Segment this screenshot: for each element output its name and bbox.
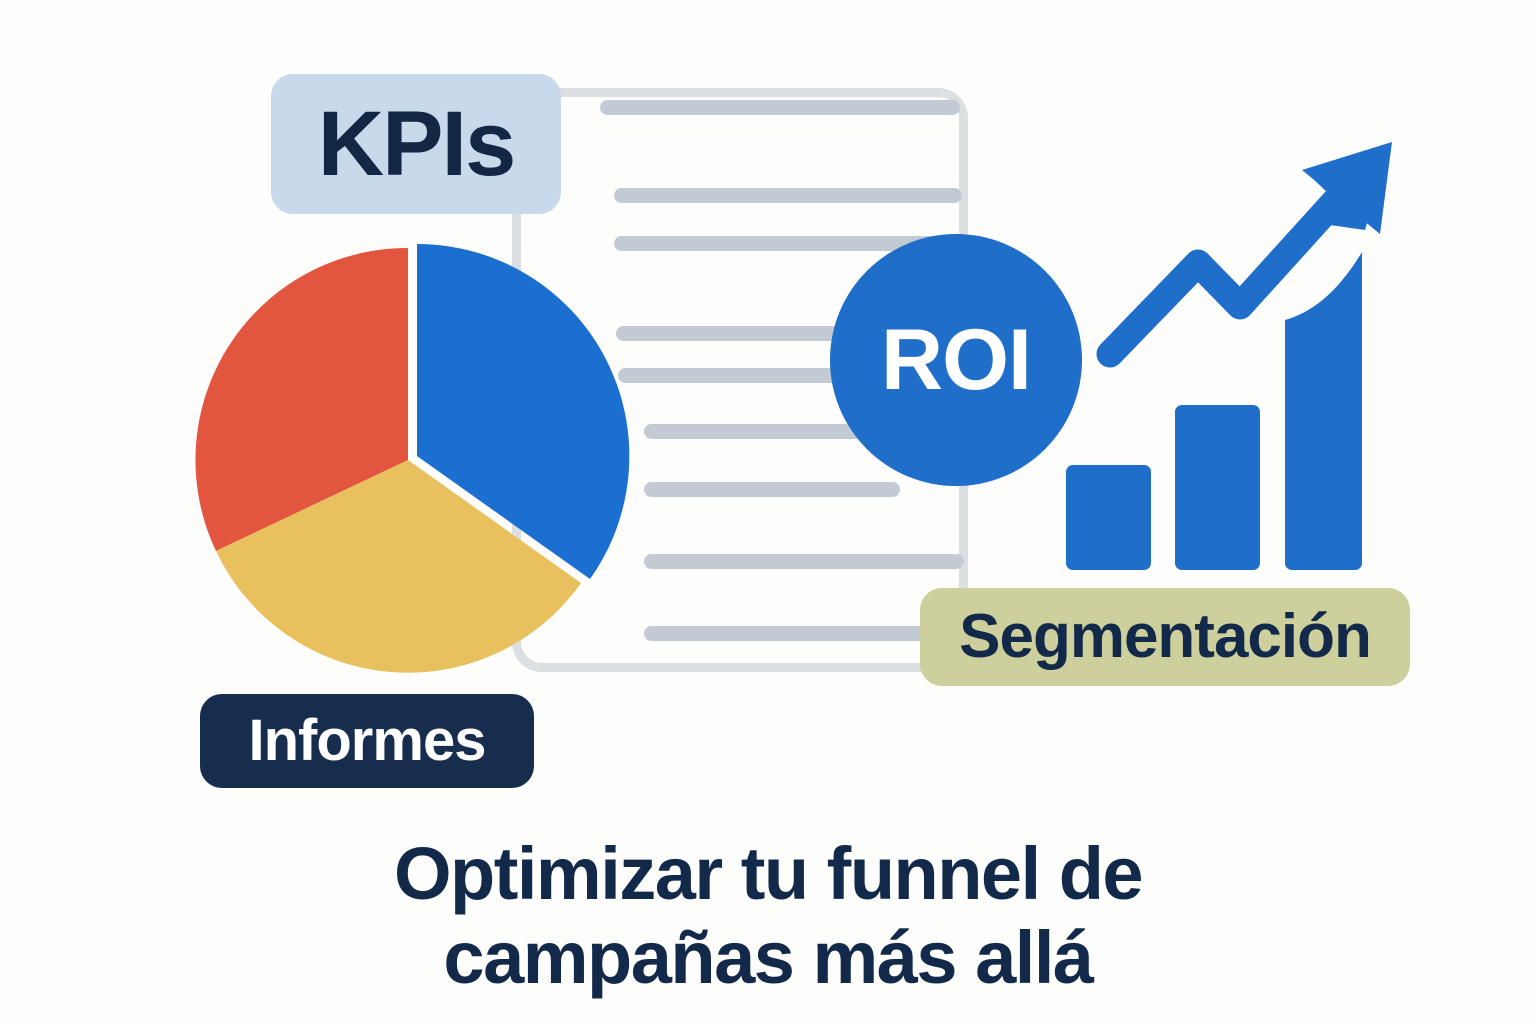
doc-line — [600, 100, 960, 115]
page-title-line-1: Optimizar tu funnel de — [0, 832, 1536, 916]
badge-kpis: KPIs — [271, 74, 561, 214]
infographic-canvas: ROI KPIs Informes Segmentación Optimizar… — [0, 0, 1536, 1024]
page-title-line-2: campañas más allá — [0, 916, 1536, 1000]
doc-line — [644, 482, 900, 497]
pie-chart-icon — [176, 236, 636, 688]
badge-informes: Informes — [200, 694, 534, 788]
bar-1 — [1066, 465, 1151, 570]
doc-line — [644, 626, 960, 641]
doc-line — [644, 424, 882, 439]
doc-line — [614, 188, 962, 203]
roi-label: ROI — [881, 317, 1031, 403]
bar-3 — [1285, 252, 1362, 570]
badge-segmentacion: Segmentación — [920, 588, 1410, 686]
badge-informes-label: Informes — [249, 712, 486, 770]
bar-2 — [1175, 405, 1260, 570]
badge-segmentacion-label: Segmentación — [959, 606, 1371, 668]
doc-line — [644, 554, 964, 569]
badge-kpis-label: KPIs — [318, 98, 515, 190]
page-title: Optimizar tu funnel de campañas más allá — [0, 832, 1536, 1001]
bar-chart-icon — [1040, 130, 1420, 570]
